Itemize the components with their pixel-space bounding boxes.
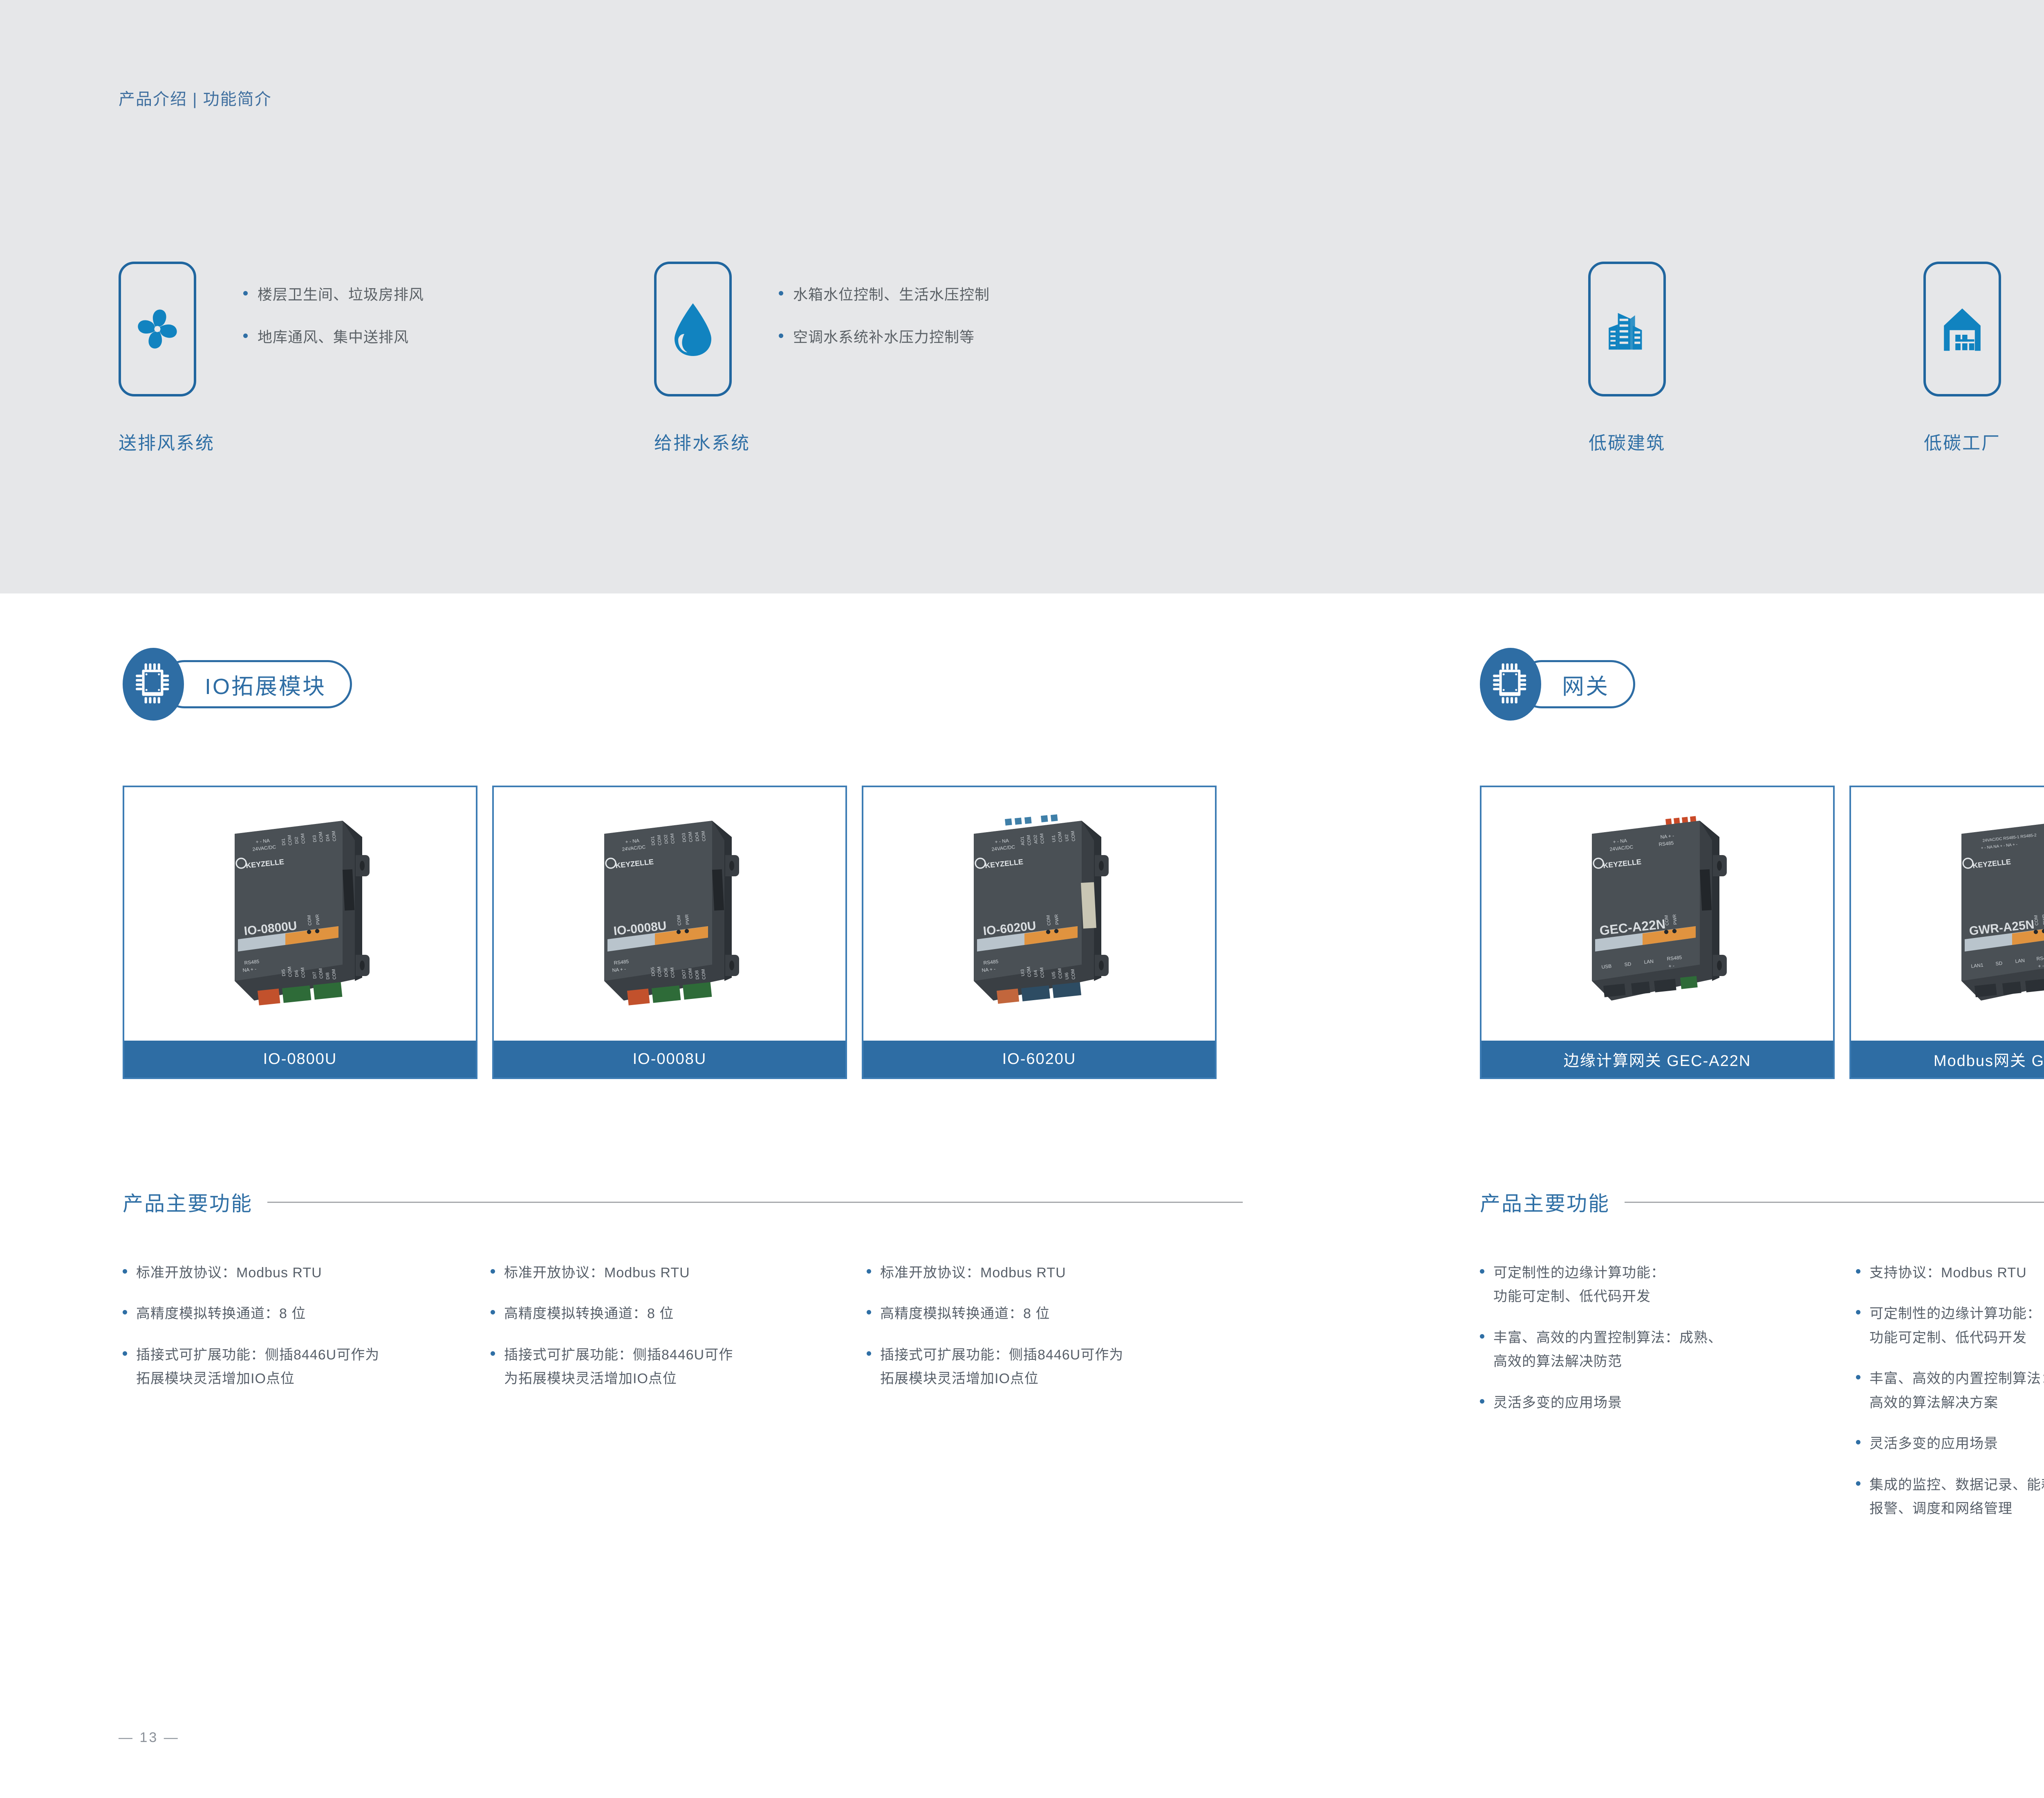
feature-text: 标准开放协议：Modbus RTU — [880, 1261, 1066, 1285]
feature-item: 标准开放协议：Modbus RTU — [491, 1261, 867, 1285]
bullet-dot-icon — [779, 334, 783, 338]
svg-text:COM: COM — [701, 969, 707, 980]
feature-column: 可定制性的边缘计算功能： 功能可定制、低代码开发 丰富、高效的内置控制算法：成熟… — [1480, 1261, 1856, 1538]
svg-text:COM: COM — [688, 968, 694, 979]
svg-text:SD: SD — [1995, 960, 2003, 967]
svg-text:COM: COM — [657, 835, 663, 846]
application-fan: 送排风系统 楼层卫生间、垃圾房排风 地库通风、集中送排风 — [119, 262, 424, 455]
svg-text:DI4: DI4 — [325, 834, 331, 842]
bullet-dot-icon — [1856, 1481, 1860, 1486]
product-caption: IO-0008U — [494, 1041, 845, 1077]
water-bullet-list: 水箱水位控制、生活水压控制 空调水系统补水压力控制等 — [779, 262, 990, 347]
water-drop-icon-frame — [654, 262, 732, 396]
svg-text:COM: COM — [1057, 831, 1063, 842]
svg-text:LAN: LAN — [1644, 958, 1654, 965]
svg-text:COM: COM — [1057, 968, 1063, 979]
feature-text: 插接式可扩展功能：侧插8446U可作为 拓展模块灵活增加IO点位 — [136, 1343, 379, 1391]
svg-text:DO4: DO4 — [695, 832, 700, 842]
svg-text:RS485: RS485 — [2036, 954, 2044, 962]
product-photo: GWR-A25N KEYZELLE 24VAC/DC RS485-1 RS485… — [1851, 787, 2044, 1041]
application-caption: 低碳工厂 — [1909, 428, 2015, 455]
feature-text: 丰富、高效的内置控制算法：成熟、 高效的算法解决方案 — [1869, 1367, 2044, 1415]
svg-text:DI1: DI1 — [281, 838, 287, 846]
bullet-dot-icon — [491, 1269, 495, 1274]
product-caption: Modbus网关 GWR-A25N — [1851, 1041, 2044, 1077]
bullet-dot-icon — [1480, 1334, 1484, 1339]
application-caption: 给排水系统 — [654, 428, 750, 455]
fan-icon-frame — [119, 262, 196, 396]
application-low-carbon-factory: 低碳工厂 — [1909, 262, 2015, 455]
chip-icon — [134, 661, 172, 708]
svg-text:AO1: AO1 — [1020, 836, 1026, 846]
svg-text:COM: COM — [1026, 966, 1032, 977]
svg-text:DI2: DI2 — [294, 837, 300, 844]
heading-rule — [1625, 1202, 2044, 1203]
bullet-dot-icon — [1856, 1269, 1860, 1274]
product-photo: IO-6020U KEYZELLE + - NA 24VAC/DC AO1 CO… — [863, 787, 1215, 1041]
feature-item: 插接式可扩展功能：侧插8446U可作为 拓展模块灵活增加IO点位 — [867, 1343, 1235, 1391]
feature-item: 高精度模拟转换通道：8 位 — [123, 1302, 491, 1326]
feature-text: 插接式可扩展功能：侧插8446U可作为 拓展模块灵活增加IO点位 — [880, 1343, 1123, 1391]
feature-item: 高精度模拟转换通道：8 位 — [491, 1302, 867, 1326]
svg-text:AO2: AO2 — [1033, 835, 1039, 844]
svg-text:UI6: UI6 — [1064, 972, 1070, 980]
feature-item: 丰富、高效的内置控制算法：成熟、 高效的算法解决防范 — [1480, 1326, 1856, 1374]
gec-a22n-device-illustration: GEC-A22N KEYZELLE + - NA 24VAC/DC NA + -… — [1531, 799, 1784, 1028]
svg-text:COM: COM — [287, 835, 293, 846]
product-card-list-io: IO-0800U KEYZELLE + - NA 24VAC/DC DI1 CO… — [123, 786, 1217, 1079]
feature-text: 标准开放协议：Modbus RTU — [136, 1261, 322, 1285]
chip-icon-circle — [123, 648, 184, 721]
svg-text:UI4: UI4 — [1033, 970, 1039, 977]
svg-text:DO7: DO7 — [681, 969, 687, 979]
product-card[interactable]: IO-0008U KEYZELLE + - NA 24VAC/DC DO1 CO… — [492, 786, 847, 1079]
svg-text:+ -: + - — [1668, 963, 1675, 969]
svg-text:PWR: PWR — [315, 914, 321, 925]
product-caption: IO-6020U — [863, 1041, 1215, 1077]
feature-text: 高精度模拟转换通道：8 位 — [504, 1302, 674, 1326]
section-badge-label: IO拓展模块 — [205, 668, 326, 701]
feature-text: 灵活多变的应用场景 — [1869, 1432, 1998, 1455]
io-6020u-device-illustration: IO-6020U KEYZELLE + - NA 24VAC/DC AO1 CO… — [912, 799, 1166, 1028]
feature-text: 高精度模拟转换通道：8 位 — [880, 1302, 1050, 1326]
application-caption: 低碳建筑 — [1574, 428, 1680, 455]
application-water: 给排水系统 水箱水位控制、生活水压控制 空调水系统补水压力控制等 — [654, 262, 990, 455]
feature-item: 集成的监控、数据记录、能耗计量、 报警、调度和网络管理 — [1856, 1473, 2044, 1521]
svg-text:COM: COM — [670, 833, 676, 844]
water-drop-icon — [662, 298, 724, 360]
office-building-icon-frame — [1588, 262, 1666, 396]
svg-text:DO1: DO1 — [650, 836, 656, 846]
bullet-item: 地库通风、集中送排风 — [243, 325, 424, 347]
feature-item: 丰富、高效的内置控制算法：成熟、 高效的算法解决方案 — [1856, 1367, 2044, 1415]
factory-icon-frame — [1923, 262, 2001, 396]
chip-icon-circle — [1480, 648, 1541, 721]
features-heading-io: 产品主要功能 — [123, 1187, 1243, 1217]
feature-item: 标准开放协议：Modbus RTU — [123, 1261, 491, 1285]
product-card[interactable]: GWR-A25N KEYZELLE 24VAC/DC RS485-1 RS485… — [1849, 786, 2044, 1079]
io-0800u-device-illustration: IO-0800U KEYZELLE + - NA 24VAC/DC DI1 CO… — [173, 799, 427, 1028]
svg-text:PWR: PWR — [1054, 914, 1060, 925]
feature-text: 灵活多变的应用场景 — [1493, 1391, 1622, 1415]
running-head-left: 产品介绍 | 功能简介 — [119, 86, 272, 110]
svg-text:DO2: DO2 — [663, 834, 669, 844]
feature-columns-io: 标准开放协议：Modbus RTU 高精度模拟转换通道：8 位 插接式可扩展功能… — [123, 1261, 1235, 1408]
svg-text:COM: COM — [331, 831, 337, 842]
svg-text:+ -: + - — [2038, 963, 2044, 969]
feature-item: 标准开放协议：Modbus RTU — [867, 1261, 1235, 1285]
svg-text:COM: COM — [307, 915, 313, 926]
bullet-text: 空调水系统补水压力控制等 — [793, 325, 975, 347]
bullet-dot-icon — [491, 1310, 495, 1314]
feature-text: 支持协议：Modbus RTU — [1869, 1261, 2027, 1285]
product-caption: IO-0800U — [124, 1041, 476, 1077]
product-photo: IO-0800U KEYZELLE + - NA 24VAC/DC DI1 CO… — [124, 787, 476, 1041]
product-card[interactable]: GEC-A22N KEYZELLE + - NA 24VAC/DC NA + -… — [1480, 786, 1835, 1079]
svg-text:SD: SD — [1624, 961, 1632, 967]
svg-text:USB: USB — [1601, 963, 1612, 970]
svg-text:COM: COM — [331, 969, 337, 980]
svg-text:PWR: PWR — [684, 914, 690, 925]
bullet-item: 空调水系统补水压力控制等 — [779, 325, 990, 347]
svg-text:COM: COM — [701, 831, 707, 842]
svg-text:DO8: DO8 — [695, 970, 700, 980]
feature-item: 支持协议：Modbus RTU — [1856, 1261, 2044, 1285]
svg-text:DO5: DO5 — [650, 967, 656, 976]
bullet-dot-icon — [867, 1269, 871, 1274]
feature-column: 标准开放协议：Modbus RTU 高精度模拟转换通道：8 位 插接式可扩展功能… — [491, 1261, 867, 1408]
bullet-dot-icon — [123, 1351, 127, 1356]
office-building-icon — [1598, 300, 1656, 358]
features-heading-gateways: 产品主要功能 — [1480, 1187, 2044, 1217]
bullet-dot-icon — [123, 1269, 127, 1274]
feature-column: 标准开放协议：Modbus RTU 高精度模拟转换通道：8 位 插接式可扩展功能… — [867, 1261, 1235, 1408]
features-heading-text: 产品主要功能 — [123, 1187, 253, 1217]
feature-item: 插接式可扩展功能：侧插8446U可作 为拓展模块灵活增加IO点位 — [491, 1343, 867, 1391]
heading-rule — [267, 1202, 1243, 1203]
svg-text:COM: COM — [1664, 915, 1670, 926]
svg-text:COM: COM — [688, 831, 694, 842]
factory-icon — [1934, 300, 1991, 358]
feature-text: 丰富、高效的内置控制算法：成熟、 高效的算法解决防范 — [1493, 1326, 1722, 1374]
svg-text:UI2: UI2 — [1064, 834, 1070, 842]
svg-text:COM: COM — [1039, 967, 1045, 978]
feature-item: 高精度模拟转换通道：8 位 — [867, 1302, 1235, 1326]
svg-text:COM: COM — [1070, 969, 1076, 980]
bullet-text: 水箱水位控制、生活水压控制 — [793, 283, 990, 304]
svg-text:DI3: DI3 — [312, 835, 318, 842]
bullet-dot-icon — [1480, 1399, 1484, 1404]
section-badge-pill: IO拓展模块 — [160, 660, 352, 708]
svg-text:COM: COM — [300, 967, 306, 978]
svg-text:UI5: UI5 — [1051, 972, 1057, 979]
svg-text:COM: COM — [300, 833, 306, 844]
bullet-dot-icon — [491, 1351, 495, 1356]
svg-text:COM: COM — [1026, 835, 1032, 846]
product-caption: 边缘计算网关 GEC-A22N — [1481, 1041, 1833, 1077]
bullet-dot-icon — [779, 291, 783, 296]
product-card-list-gateways: GEC-A22N KEYZELLE + - NA 24VAC/DC NA + -… — [1480, 786, 2044, 1079]
feature-column: 支持协议：Modbus RTU 可定制性的边缘计算功能： 功能可定制、低代码开发… — [1856, 1261, 2044, 1538]
bullet-dot-icon — [243, 291, 248, 296]
feature-item: 可定制性的边缘计算功能： 功能可定制、低代码开发 — [1856, 1302, 2044, 1350]
product-photo: IO-0008U KEYZELLE + - NA 24VAC/DC DO1 CO… — [494, 787, 845, 1041]
feature-item: 灵活多变的应用场景 — [1480, 1391, 1856, 1415]
feature-item: 插接式可扩展功能：侧插8446U可作为 拓展模块灵活增加IO点位 — [123, 1343, 491, 1391]
feature-column: 标准开放协议：Modbus RTU 高精度模拟转换通道：8 位 插接式可扩展功能… — [123, 1261, 491, 1408]
svg-text:COM: COM — [287, 966, 293, 977]
bullet-dot-icon — [867, 1351, 871, 1356]
svg-text:COM: COM — [657, 966, 663, 977]
product-photo: GEC-A22N KEYZELLE + - NA 24VAC/DC NA + -… — [1481, 787, 1833, 1041]
svg-text:COM: COM — [676, 915, 682, 926]
feature-text: 可定制性的边缘计算功能： 功能可定制、低代码开发 — [1493, 1261, 1665, 1309]
feature-text: 可定制性的边缘计算功能： 功能可定制、低代码开发 — [1869, 1302, 2041, 1350]
page-number-left: — 13 — — [119, 1730, 179, 1746]
bullet-dot-icon — [1480, 1269, 1484, 1274]
bullet-text: 楼层卫生间、垃圾房排风 — [258, 283, 424, 304]
gwr-a25n-device-illustration: GWR-A25N KEYZELLE 24VAC/DC RS485-1 RS485… — [1900, 799, 2044, 1028]
svg-text:COM: COM — [1039, 833, 1045, 844]
bullet-dot-icon — [1856, 1310, 1860, 1314]
bullet-item: 楼层卫生间、垃圾房排风 — [243, 283, 424, 304]
svg-text:DI6: DI6 — [294, 970, 300, 977]
section-badge-io-modules: IO拓展模块 — [123, 648, 352, 721]
feature-columns-gateways: 可定制性的边缘计算功能： 功能可定制、低代码开发 丰富、高效的内置控制算法：成熟… — [1480, 1261, 2044, 1538]
svg-text:COM: COM — [318, 968, 324, 979]
fan-bullet-list: 楼层卫生间、垃圾房排风 地库通风、集中送排风 — [243, 262, 424, 347]
feature-text: 集成的监控、数据记录、能耗计量、 报警、调度和网络管理 — [1869, 1473, 2044, 1521]
svg-text:DI5: DI5 — [281, 969, 287, 976]
svg-text:DI8: DI8 — [325, 972, 331, 980]
svg-text:COM: COM — [670, 967, 676, 978]
application-low-carbon-building: 低碳建筑 — [1574, 262, 1680, 455]
svg-text:COM: COM — [318, 831, 324, 842]
feature-item: 可定制性的边缘计算功能： 功能可定制、低代码开发 — [1480, 1261, 1856, 1309]
bullet-dot-icon — [1856, 1375, 1860, 1379]
section-badge-gateways: 网关 — [1480, 648, 1635, 721]
svg-text:DO3: DO3 — [681, 833, 687, 842]
svg-text:LAN: LAN — [2015, 958, 2025, 964]
fan-icon — [127, 298, 188, 360]
svg-text:COM: COM — [1070, 831, 1076, 842]
feature-text: 高精度模拟转换通道：8 位 — [136, 1302, 306, 1326]
section-badge-label: 网关 — [1562, 668, 1609, 701]
feature-text: 标准开放协议：Modbus RTU — [504, 1261, 690, 1285]
svg-text:UI3: UI3 — [1020, 969, 1026, 976]
feature-text: 插接式可扩展功能：侧插8446U可作 为拓展模块灵活增加IO点位 — [504, 1343, 733, 1391]
io-0008u-device-illustration: IO-0008U KEYZELLE + - NA 24VAC/DC DO1 CO… — [543, 799, 796, 1028]
svg-text:PWR: PWR — [1672, 914, 1678, 925]
bullet-dot-icon — [867, 1310, 871, 1314]
chip-icon — [1492, 661, 1529, 708]
bullet-text: 地库通风、集中送排风 — [258, 325, 409, 347]
product-card[interactable]: IO-6020U KEYZELLE + - NA 24VAC/DC AO1 CO… — [862, 786, 1217, 1079]
svg-text:UI1: UI1 — [1051, 835, 1057, 842]
svg-text:COM: COM — [1046, 915, 1052, 926]
catalog-spread: 产品介绍 | 功能简介 产品介绍 | 功能简介 — [0, 0, 2044, 1798]
svg-text:DO6: DO6 — [663, 967, 669, 977]
features-heading-text: 产品主要功能 — [1480, 1187, 1610, 1217]
bullet-dot-icon — [123, 1310, 127, 1314]
bullet-item: 水箱水位控制、生活水压控制 — [779, 283, 990, 304]
feature-item: 灵活多变的应用场景 — [1856, 1432, 2044, 1455]
bullet-dot-icon — [243, 334, 248, 338]
application-caption: 送排风系统 — [119, 428, 215, 455]
bullet-dot-icon — [1856, 1440, 1860, 1444]
product-card[interactable]: IO-0800U KEYZELLE + - NA 24VAC/DC DI1 CO… — [123, 786, 477, 1079]
svg-text:DI7: DI7 — [312, 972, 318, 979]
svg-text:COM: COM — [2033, 915, 2040, 926]
